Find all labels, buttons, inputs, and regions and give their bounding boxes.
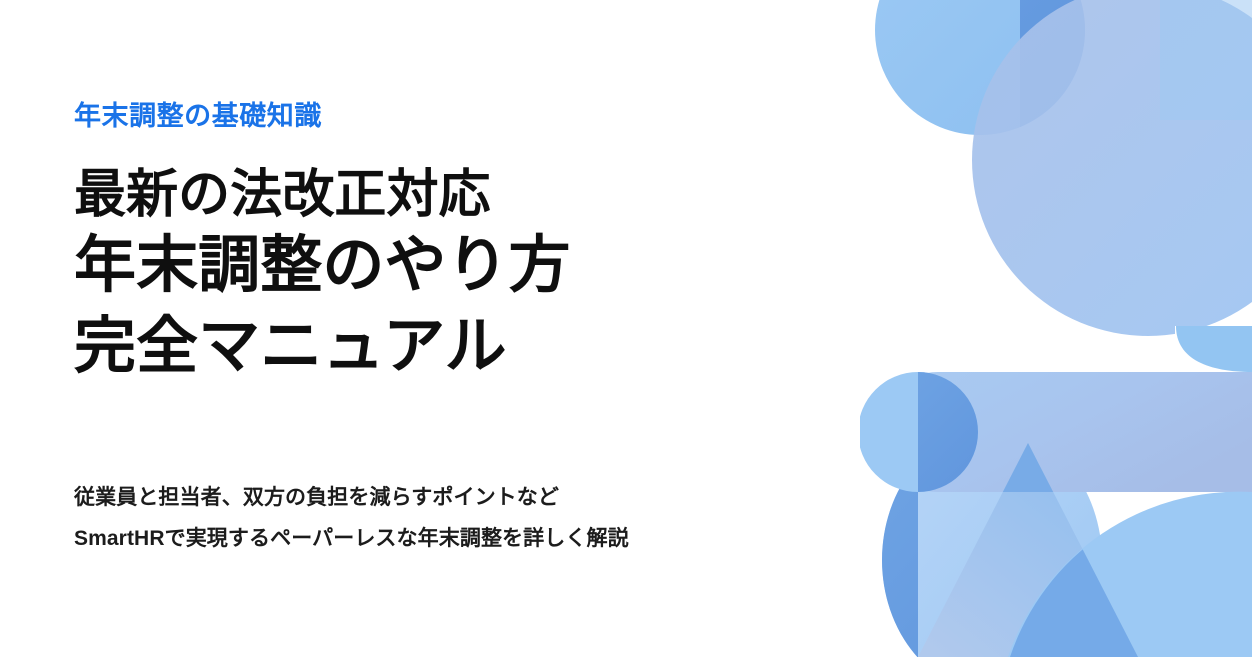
shape-ellipse-center [882, 428, 1102, 657]
shape-triangle-quarter-overlap [918, 443, 1138, 657]
headline-line-2: 年末調整のやり方 [74, 226, 571, 307]
text-content: 年末調整の基礎知識 最新の法改正対応 年末調整のやり方 完全マニュアル 従業員と… [74, 0, 864, 657]
subtitle-line-1: 従業員と担当者、双方の負担を減らすポイントなど [74, 478, 629, 519]
subtitle-line-2: SmartHRで実現するペーパーレスな年末調整を詳しく解説 [74, 519, 629, 560]
decoration-blue-geometric-shapes [860, 0, 1252, 657]
shape-triangle-band-overlap [918, 443, 1138, 657]
page-title: 最新の法改正対応 年末調整のやり方 完全マニュアル [74, 165, 571, 388]
subtitle: 従業員と担当者、双方の負担を減らすポイントなど SmartHRで実現するペーパー… [74, 478, 629, 560]
shape-circle-lower-left-dark [860, 372, 978, 492]
shape-circle-lower-left [860, 372, 978, 492]
eyebrow-label: 年末調整の基礎知識 [74, 94, 322, 133]
shape-top-right-fill [1160, 0, 1252, 120]
shape-quarter-round-right [1175, 315, 1252, 372]
banner: 年末調整の基礎知識 最新の法改正対応 年末調整のやり方 完全マニュアル 従業員と… [0, 0, 1252, 657]
shape-ellipse-center-dark-left [882, 428, 1102, 657]
shape-semicircle-dark-top [875, 0, 1085, 135]
shape-triangle [918, 443, 1138, 657]
shape-circle-top-left [875, 0, 1085, 135]
headline-line-1: 最新の法改正対応 [74, 165, 571, 226]
shape-pill-band [878, 372, 1252, 492]
shape-quarter-circle-bottom-right [1008, 492, 1252, 657]
shape-large-circle-right [972, 0, 1252, 336]
headline-line-3: 完全マニュアル [74, 307, 571, 388]
